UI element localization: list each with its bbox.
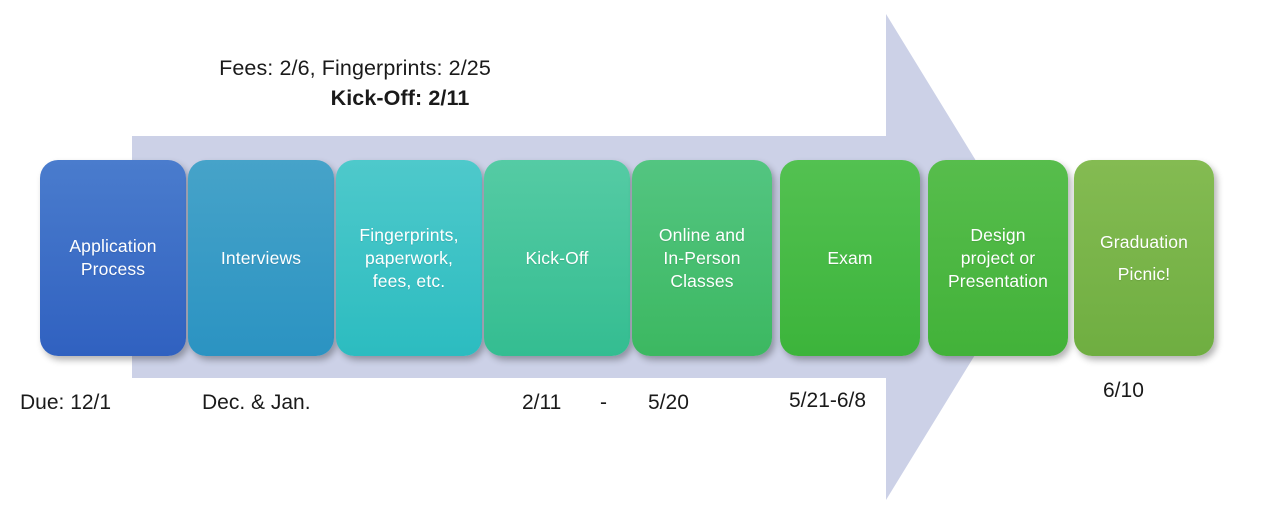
date-label-list: Due: 12/1Dec. & Jan.2/11-5/205/21-6/86/1… xyxy=(0,0,1261,520)
date-label-graduation-date: 6/10 xyxy=(1103,378,1144,404)
timeline-diagram: Fees: 2/6, Fingerprints: 2/25 Kick-Off: … xyxy=(0,0,1261,520)
date-label-exam-window: 5/21-6/8 xyxy=(789,388,866,414)
date-label-classes-end: 5/20 xyxy=(648,390,689,416)
date-label-interviews-dates: Dec. & Jan. xyxy=(202,390,311,416)
date-label-classes-dash: - xyxy=(600,390,607,416)
date-label-application-due: Due: 12/1 xyxy=(20,390,111,416)
date-label-classes-start: 2/11 xyxy=(522,390,561,416)
